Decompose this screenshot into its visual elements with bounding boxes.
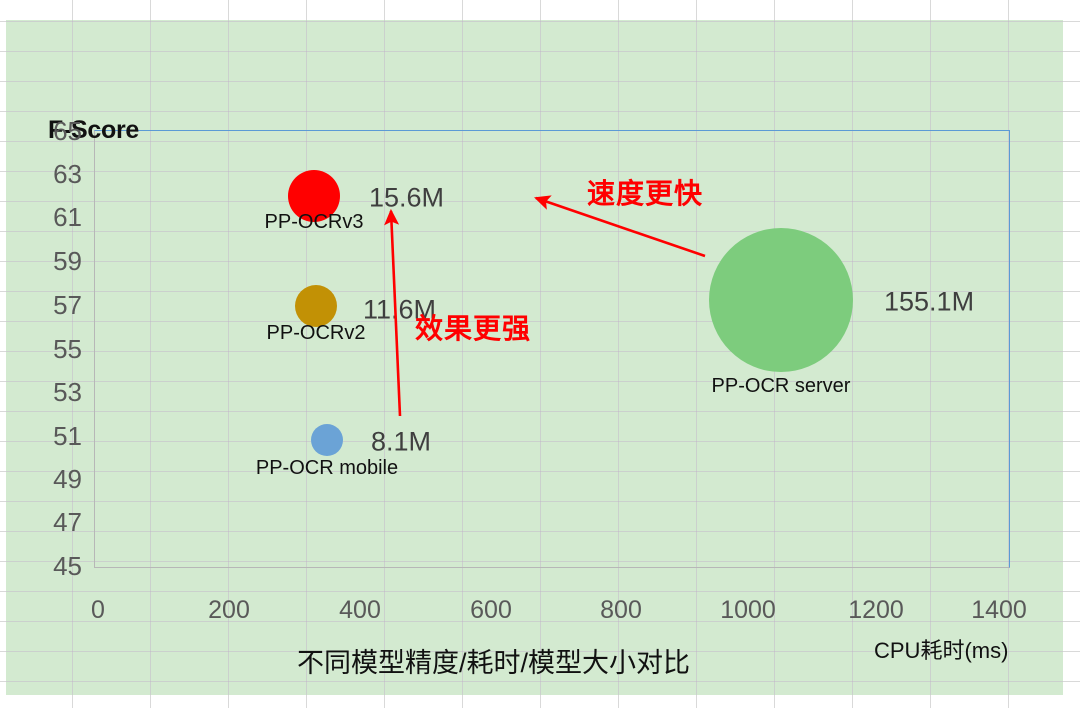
x-tick-label: 1400 [971, 598, 1027, 623]
spreadsheet-canvas: F-Score 65 63 61 59 57 55 53 51 49 47 45… [0, 0, 1080, 708]
x-tick-label: 1200 [848, 598, 904, 623]
plot-area [94, 130, 1010, 568]
x-axis-title: CPU耗时(ms) [874, 633, 1008, 665]
bubble-label-pp-ocr-server: PP-OCR server [712, 375, 851, 398]
chart-title: 不同模型精度/耗时/模型大小对比 [297, 641, 690, 680]
y-tick-label: 65 [30, 118, 82, 144]
y-tick-label: 51 [30, 423, 82, 449]
y-tick-label: 49 [30, 466, 82, 492]
bubble-label-pp-ocrv3: PP-OCRv3 [265, 211, 364, 234]
bubble-chart[interactable]: F-Score 65 63 61 59 57 55 53 51 49 47 45… [6, 20, 1063, 695]
x-tick-label: 400 [339, 598, 381, 623]
y-tick-label: 55 [30, 336, 82, 362]
x-tick-label: 600 [470, 598, 512, 623]
y-tick-label: 47 [30, 509, 82, 535]
bubble-pp-ocr-server[interactable] [709, 228, 853, 372]
annotation-faster-speed: 速度更快 [587, 172, 703, 212]
bubble-label-pp-ocr-mobile: PP-OCR mobile [256, 457, 398, 480]
x-tick-label: 0 [91, 598, 105, 623]
x-tick-label: 800 [600, 598, 642, 623]
bubble-value-pp-ocrv3: 15.6M [369, 183, 444, 214]
y-tick-label: 53 [30, 379, 82, 405]
bubble-value-pp-ocr-server: 155.1M [884, 287, 974, 318]
y-tick-label: 45 [30, 553, 82, 579]
bubble-label-pp-ocrv2: PP-OCRv2 [267, 322, 366, 345]
bubble-pp-ocr-mobile[interactable] [311, 424, 343, 456]
x-tick-label: 200 [208, 598, 250, 623]
y-tick-label: 61 [30, 204, 82, 230]
bubble-value-pp-ocr-mobile: 8.1M [371, 427, 431, 458]
x-tick-label: 1000 [720, 598, 776, 623]
annotation-stronger-effect: 效果更强 [415, 307, 531, 347]
y-tick-label: 57 [30, 292, 82, 318]
y-axis-tick-labels: 65 63 61 59 57 55 53 51 49 47 45 [24, 20, 82, 695]
y-tick-label: 59 [30, 248, 82, 274]
y-tick-label: 63 [30, 161, 82, 187]
bubble-pp-ocrv2[interactable] [295, 285, 337, 327]
